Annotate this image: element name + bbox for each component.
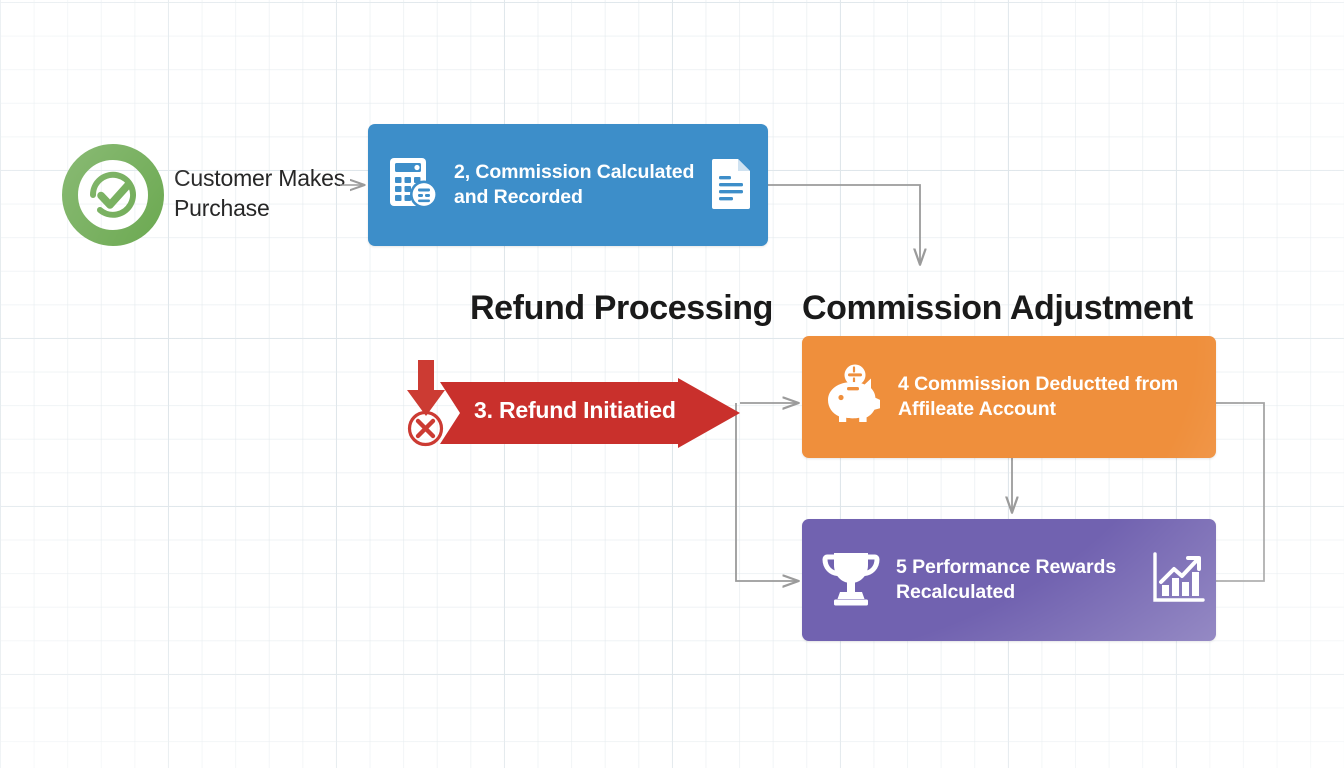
trophy-icon xyxy=(820,547,882,614)
node-orange-label: 4 Commission Deductted from Affileate Ac… xyxy=(884,372,1200,421)
node-performance-rewards[interactable]: 5 Performance Rewards Recalculated xyxy=(802,519,1216,641)
connector-blue-to-commission xyxy=(768,185,920,264)
start-node-label: Customer Makes Purchase xyxy=(174,163,354,224)
green-check-circle-icon xyxy=(60,142,166,248)
document-icon xyxy=(710,157,754,214)
connector-orange-purple-right-loop xyxy=(1216,403,1264,581)
calculator-icon xyxy=(388,156,440,215)
piggy-bank-icon xyxy=(820,364,884,431)
lane-title-commission-adjustment: Commission Adjustment xyxy=(802,289,1193,328)
node-commission-deducted[interactable]: 4 Commission Deductted from Affileate Ac… xyxy=(802,336,1216,458)
red-x-circle-icon xyxy=(406,409,445,448)
node-purple-label: 5 Performance Rewards Recalculated xyxy=(882,555,1152,604)
refund-banner-label: 3. Refund Initiatied xyxy=(474,398,704,423)
diagram-canvas: Customer Makes Purchase xyxy=(0,0,1344,768)
connector-refund-to-purple xyxy=(736,403,798,581)
node-blue-label: 2, Commission Calculated and Recorded xyxy=(440,160,710,209)
node-commission-calculated[interactable]: 2, Commission Calculated and Recorded xyxy=(368,124,768,246)
lane-title-refund-processing: Refund Processing xyxy=(470,289,773,328)
growth-chart-icon xyxy=(1152,551,1206,610)
